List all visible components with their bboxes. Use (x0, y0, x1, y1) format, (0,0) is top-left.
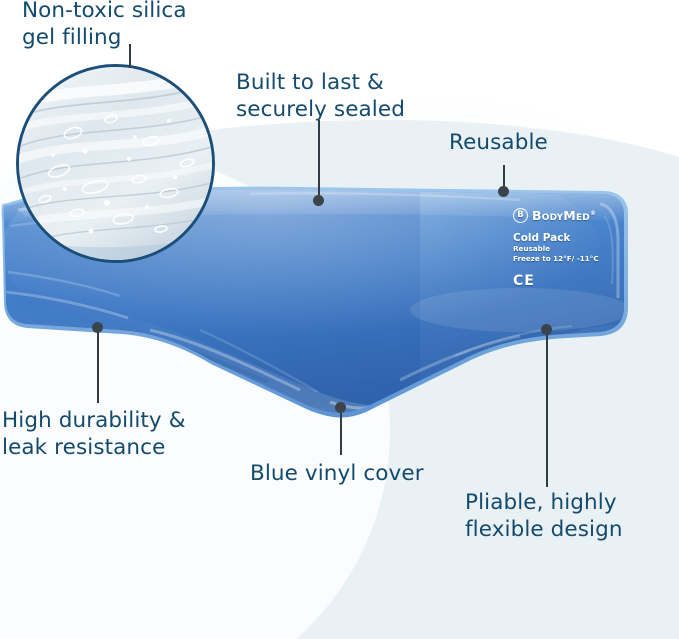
product-label: B BodyMed® Cold Pack Reusable Freeze to … (513, 208, 623, 289)
brand-name: BodyMed® (532, 208, 596, 223)
callout-non-toxic-silica-gel-filling: Non-toxic silica gel filling (22, 0, 187, 51)
bodymed-logo-icon: B (513, 208, 528, 223)
leader-line-built-to-last (318, 120, 320, 200)
leader-dot-durability (92, 322, 103, 333)
callout-built-to-last-securely-sealed: Built to last & securely sealed (236, 70, 405, 123)
callout-pliable-highly-flexible-design: Pliable, highly flexible design (465, 490, 623, 543)
callout-high-durability-leak-resistance: High durability & leak resistance (2, 408, 186, 461)
brand-logo: B BodyMed® (513, 208, 623, 223)
leader-dot-vinyl-cover (335, 402, 346, 413)
registered-trademark-icon: ® (590, 210, 596, 217)
label-product-title: Cold Pack (513, 232, 623, 244)
leader-dot-reusable (498, 186, 509, 197)
callout-reusable: Reusable (449, 130, 548, 157)
infographic-canvas: B BodyMed® Cold Pack Reusable Freeze to … (0, 0, 679, 639)
leader-dot-pliable (541, 324, 552, 335)
label-reusable-line: Reusable (513, 244, 623, 254)
leader-line-durability (97, 327, 99, 403)
label-freeze-line: Freeze to 12°F/ -11°C (513, 254, 623, 264)
leader-dot-built-to-last (313, 195, 324, 206)
callout-blue-vinyl-cover: Blue vinyl cover (250, 461, 424, 488)
leader-line-vinyl-cover (340, 407, 342, 455)
silica-gel-magnifier (16, 64, 215, 263)
ce-mark-icon: CE (513, 273, 623, 289)
leader-line-pliable (546, 329, 548, 487)
